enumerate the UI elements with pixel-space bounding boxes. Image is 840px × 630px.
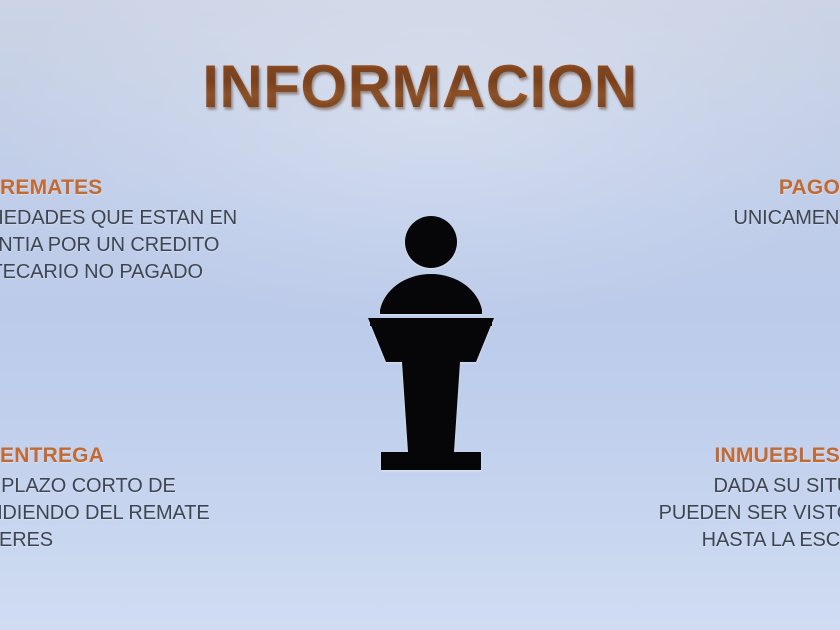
podium-speaker-icon <box>350 210 512 478</box>
block-line: DE INTERES <box>0 527 210 554</box>
block-line: DADA SU SITUACION <box>659 473 840 500</box>
text-block-remates: REMATES PROPIEDADES QUE ESTAN EN GARANTI… <box>0 176 237 286</box>
page-title: INFORMACION <box>0 52 840 121</box>
block-heading-entrega: ENTREGA <box>0 444 210 468</box>
block-line: UNICAMENTE CONTADO <box>734 205 840 232</box>
block-line: DEPENDIENDO DEL REMATE <box>0 500 210 527</box>
block-heading-inmuebles: INMUEBLES <box>659 444 840 468</box>
block-line: HIPOTECARIO NO PAGADO <box>0 259 237 286</box>
block-line: GARANTIA POR UN CREDITO <box>0 232 237 259</box>
block-line: PROPIEDADES QUE ESTAN EN <box>0 205 237 232</box>
text-block-entrega: ENTREGA DE UN PLAZO CORTO DE DEPENDIENDO… <box>0 444 210 554</box>
text-block-pago: PAGO UNICAMENTE CONTADO <box>734 176 840 232</box>
block-line: HASTA LA ESCRITURA <box>659 527 840 554</box>
block-line: PUEDEN SER VISTOS POR <box>659 500 840 527</box>
block-heading-remates: REMATES <box>0 176 237 200</box>
block-heading-pago: PAGO <box>734 176 840 200</box>
text-block-inmuebles: INMUEBLES DADA SU SITUACION PUEDEN SER V… <box>659 444 840 554</box>
block-line: DE UN PLAZO CORTO DE <box>0 473 210 500</box>
presentation-slide: INFORMACION INFORMACION REMATES PROPIEDA… <box>0 0 840 630</box>
